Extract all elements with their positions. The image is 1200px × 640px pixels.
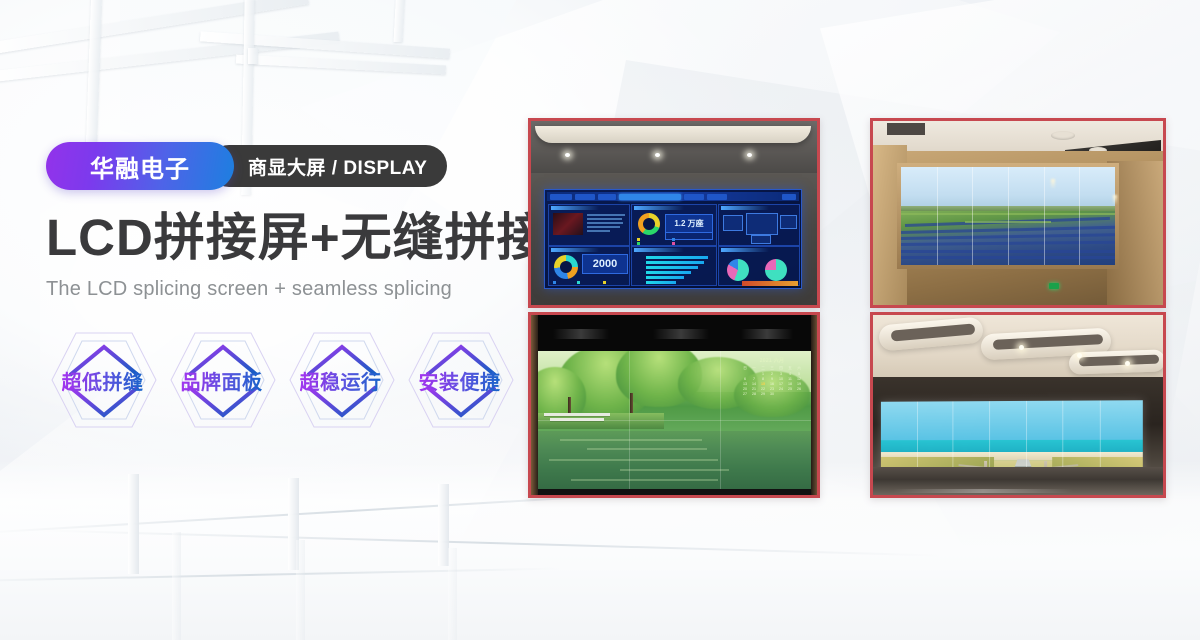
gallery-photo-solar-farm-video-wall[interactable]	[870, 118, 1166, 308]
calendar-overlay: 2021 六月 日一二三四五六 12345 6789101112 1314151…	[741, 357, 803, 409]
dashboard-screen: 1.2 万座	[544, 189, 802, 289]
brand-badge[interactable]: 华融电子	[46, 142, 234, 190]
feature-hexagon-row: 超低拼缝 品牌面板 超稳运行	[46, 327, 516, 433]
calendar-weekday-row: 日一二三四五六	[741, 366, 803, 370]
gallery-photo-beach-boardwalk-video-wall[interactable]	[870, 312, 1166, 498]
gallery-photo-willow-lake-video-wall[interactable]: 2021 六月 日一二三四五六 12345 6789101112 1314151…	[528, 312, 820, 498]
page-title: LCD拼接屏+无缝拼接	[46, 212, 516, 264]
feature-hexagon-2[interactable]: 品牌面板	[165, 327, 278, 433]
feature-hexagon-1[interactable]: 超低拼缝	[46, 327, 159, 433]
gallery-photo-control-room-dashboard[interactable]: 1.2 万座	[528, 118, 820, 308]
solar-farm-screen	[901, 167, 1115, 265]
feature-label: 安装便捷	[419, 366, 501, 395]
calendar-day-grid: 12345 6789101112 13141516171819 20212223…	[741, 372, 803, 396]
feature-hexagon-3[interactable]: 超稳运行	[284, 327, 397, 433]
willow-lake-screen: 2021 六月 日一二三四五六 12345 6789101112 1314151…	[538, 351, 811, 489]
badge-row: 华融电子 商显大屏 / DISPLAY	[46, 142, 516, 190]
banner-text-block: 华融电子 商显大屏 / DISPLAY LCD拼接屏+无缝拼接 The LCD …	[46, 142, 516, 433]
promo-banner: 华融电子 商显大屏 / DISPLAY LCD拼接屏+无缝拼接 The LCD …	[0, 0, 1200, 640]
product-photo-grid: 1.2 万座	[528, 118, 1160, 492]
feature-hexagon-4[interactable]: 安装便捷	[403, 327, 516, 433]
feature-label: 超稳运行	[300, 366, 382, 395]
feature-label: 超低拼缝	[62, 366, 144, 395]
page-subtitle: The LCD splicing screen + seamless splic…	[46, 278, 516, 301]
category-badge[interactable]: 商显大屏 / DISPLAY	[208, 145, 447, 187]
calendar-title: 2021 六月	[741, 357, 803, 364]
feature-label: 品牌面板	[181, 366, 263, 395]
